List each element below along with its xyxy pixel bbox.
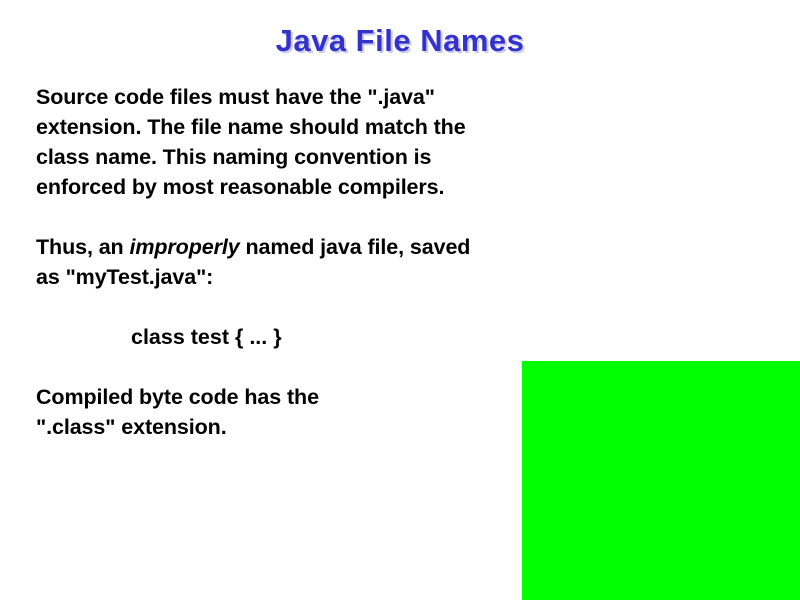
paragraph-line: Source code files must have the ".java"	[36, 82, 736, 112]
paragraph-line: enforced by most reasonable compilers.	[36, 172, 736, 202]
text-after-emphasis: named java file, saved	[240, 235, 471, 259]
paragraph-improperly-named-file: Thus, an improperly named java file, sav…	[36, 232, 736, 292]
paragraph-line: Thus, an improperly named java file, sav…	[36, 232, 736, 262]
text-before-emphasis: Thus, an	[36, 235, 129, 259]
paragraph-spacer	[36, 292, 736, 322]
code-sample-class-test: class test { ... }	[36, 322, 736, 352]
emphasis-improperly: improperly	[129, 235, 239, 259]
paragraph-spacer	[36, 202, 736, 232]
paragraph-line: extension. The file name should match th…	[36, 112, 736, 142]
page-title: Java File Names	[0, 22, 800, 60]
green-rectangle-graphic	[522, 361, 800, 600]
paragraph-line: as "myTest.java":	[36, 262, 736, 292]
paragraph-line: class name. This naming convention is	[36, 142, 736, 172]
paragraph-source-code-files: Source code files must have the ".java" …	[36, 82, 736, 202]
slide-canvas: Java File Names Source code files must h…	[0, 0, 800, 600]
